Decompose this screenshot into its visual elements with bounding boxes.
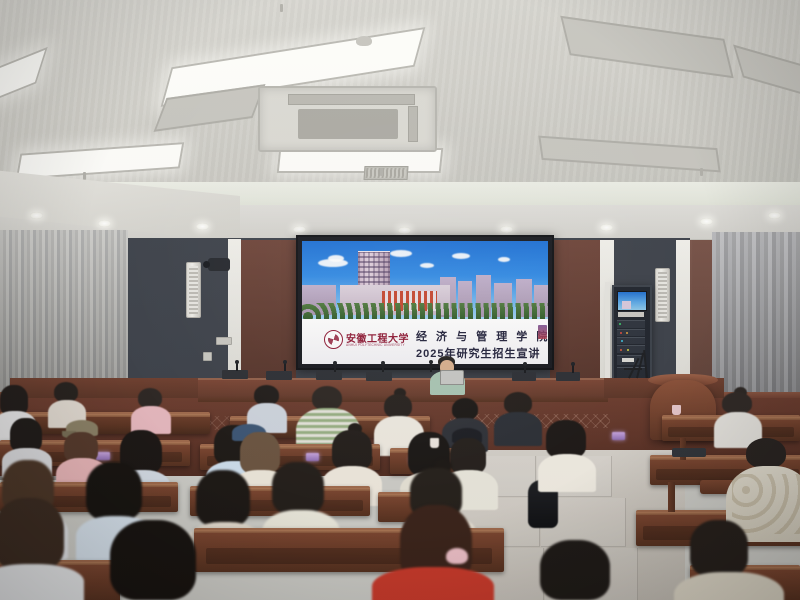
rack-status-led — [620, 349, 622, 351]
cloud — [328, 255, 344, 262]
rack-status-led — [620, 332, 622, 334]
cassette-air-conditioner — [258, 86, 437, 152]
hair — [746, 438, 786, 468]
torso — [538, 454, 596, 492]
lecture-hall-photo: 安徽工程大学 ANHUI POLYTECHNIC UNIVERSITY 经 济 … — [0, 0, 800, 600]
notebook-on-desk — [672, 448, 706, 457]
cloud — [420, 263, 434, 268]
slide-corner-mark — [538, 325, 547, 339]
ac-center-panel — [298, 109, 398, 139]
hair — [54, 382, 78, 402]
hair — [240, 432, 280, 474]
cloud — [498, 257, 510, 262]
desk-leg — [668, 482, 675, 512]
university-logo-emblem — [324, 330, 343, 349]
foreground-trees — [302, 303, 548, 319]
hair — [10, 418, 42, 452]
hair — [450, 438, 486, 474]
paper-cup — [430, 438, 439, 448]
torso — [0, 564, 84, 600]
name-placard — [366, 372, 392, 381]
table-microphone — [524, 364, 526, 373]
rack-confidence-monitor — [617, 291, 647, 311]
wall-outlet — [203, 352, 212, 361]
hair — [0, 498, 64, 570]
line-array-speaker-right — [655, 268, 670, 322]
ac-grille-top — [288, 94, 415, 105]
podium-mic-base — [624, 368, 642, 370]
vent-slats — [366, 168, 407, 178]
hair — [452, 398, 478, 420]
hair — [196, 470, 250, 526]
recessed-downlight — [768, 212, 781, 219]
rack-status-led — [626, 332, 628, 334]
slide-title-line2: 2025年研究生招生宣讲 — [416, 345, 540, 361]
rack-status-led — [621, 340, 623, 342]
led-presentation-screen[interactable]: 安徽工程大学 ANHUI POLYTECHNIC UNIVERSITY 经 济 … — [296, 235, 554, 370]
name-placard — [222, 370, 248, 379]
hair — [110, 520, 196, 600]
rack-device — [617, 337, 645, 344]
hair — [722, 392, 752, 414]
recessed-downlight — [500, 226, 513, 233]
fire-sprinkler — [280, 4, 283, 12]
recessed-downlight — [700, 218, 713, 225]
name-placard — [512, 372, 536, 381]
rack-front-panel — [622, 358, 634, 362]
torso — [372, 567, 494, 600]
hair — [546, 420, 586, 458]
ceiling-camera — [208, 258, 230, 271]
hair — [138, 388, 162, 408]
hair — [690, 520, 748, 576]
table-microphone — [334, 363, 336, 372]
rack-device — [617, 329, 645, 336]
hair — [86, 462, 142, 520]
rack-side-trim — [605, 282, 610, 382]
ceiling — [0, 0, 800, 212]
line-array-speaker-left — [186, 262, 201, 318]
paper-cup — [672, 405, 681, 415]
university-logo-text-en: ANHUI POLYTECHNIC UNIVERSITY — [346, 343, 405, 347]
rack-status-led — [627, 349, 629, 351]
fire-sprinkler — [380, 168, 383, 176]
ac-grille-right — [408, 106, 418, 142]
hair — [312, 386, 342, 410]
recessed-downlight — [600, 224, 613, 231]
smoke-detector — [356, 36, 372, 46]
hair — [332, 430, 372, 470]
rack-blank-panel — [618, 312, 644, 317]
hair — [254, 385, 279, 405]
shirt-floral-pattern — [732, 474, 800, 534]
smartphone-screen — [612, 432, 625, 440]
rack-device — [617, 345, 645, 353]
name-placard — [266, 371, 292, 380]
slide-campus-photo — [302, 241, 548, 319]
recessed-downlight — [98, 220, 111, 227]
wall-control-plate — [216, 337, 232, 345]
hair-bow-accessory — [446, 548, 468, 564]
slide-title-band: 安徽工程大学 ANHUI POLYTECHNIC UNIVERSITY 经 济 … — [302, 319, 548, 364]
fire-sprinkler — [700, 168, 703, 176]
rack-status-led — [619, 323, 621, 325]
table-microphone — [382, 363, 384, 372]
table-microphone — [430, 362, 432, 372]
slide-title-line1: 经 济 与 管 理 学 院 — [416, 328, 550, 344]
table-microphone — [284, 362, 286, 371]
recessed-downlight — [293, 226, 306, 233]
hair — [272, 462, 324, 514]
presenter-laptop — [440, 370, 464, 385]
cloud — [452, 253, 470, 259]
name-placard — [556, 372, 580, 381]
torso — [494, 412, 542, 446]
rack-device — [617, 320, 645, 328]
smartphone-screen — [306, 453, 319, 461]
smartphone-screen — [96, 452, 110, 460]
recessed-downlight — [30, 212, 43, 219]
hair — [384, 394, 412, 418]
head-table-left-section — [10, 378, 200, 398]
recessed-downlight — [196, 223, 209, 230]
name-placard — [316, 371, 342, 380]
recessed-downlight — [398, 227, 411, 234]
cloud — [390, 250, 412, 257]
hair — [504, 392, 532, 414]
hair — [540, 540, 610, 600]
table-microphone — [572, 364, 574, 373]
ceiling-vent — [364, 166, 409, 180]
table-microphone — [236, 362, 238, 371]
